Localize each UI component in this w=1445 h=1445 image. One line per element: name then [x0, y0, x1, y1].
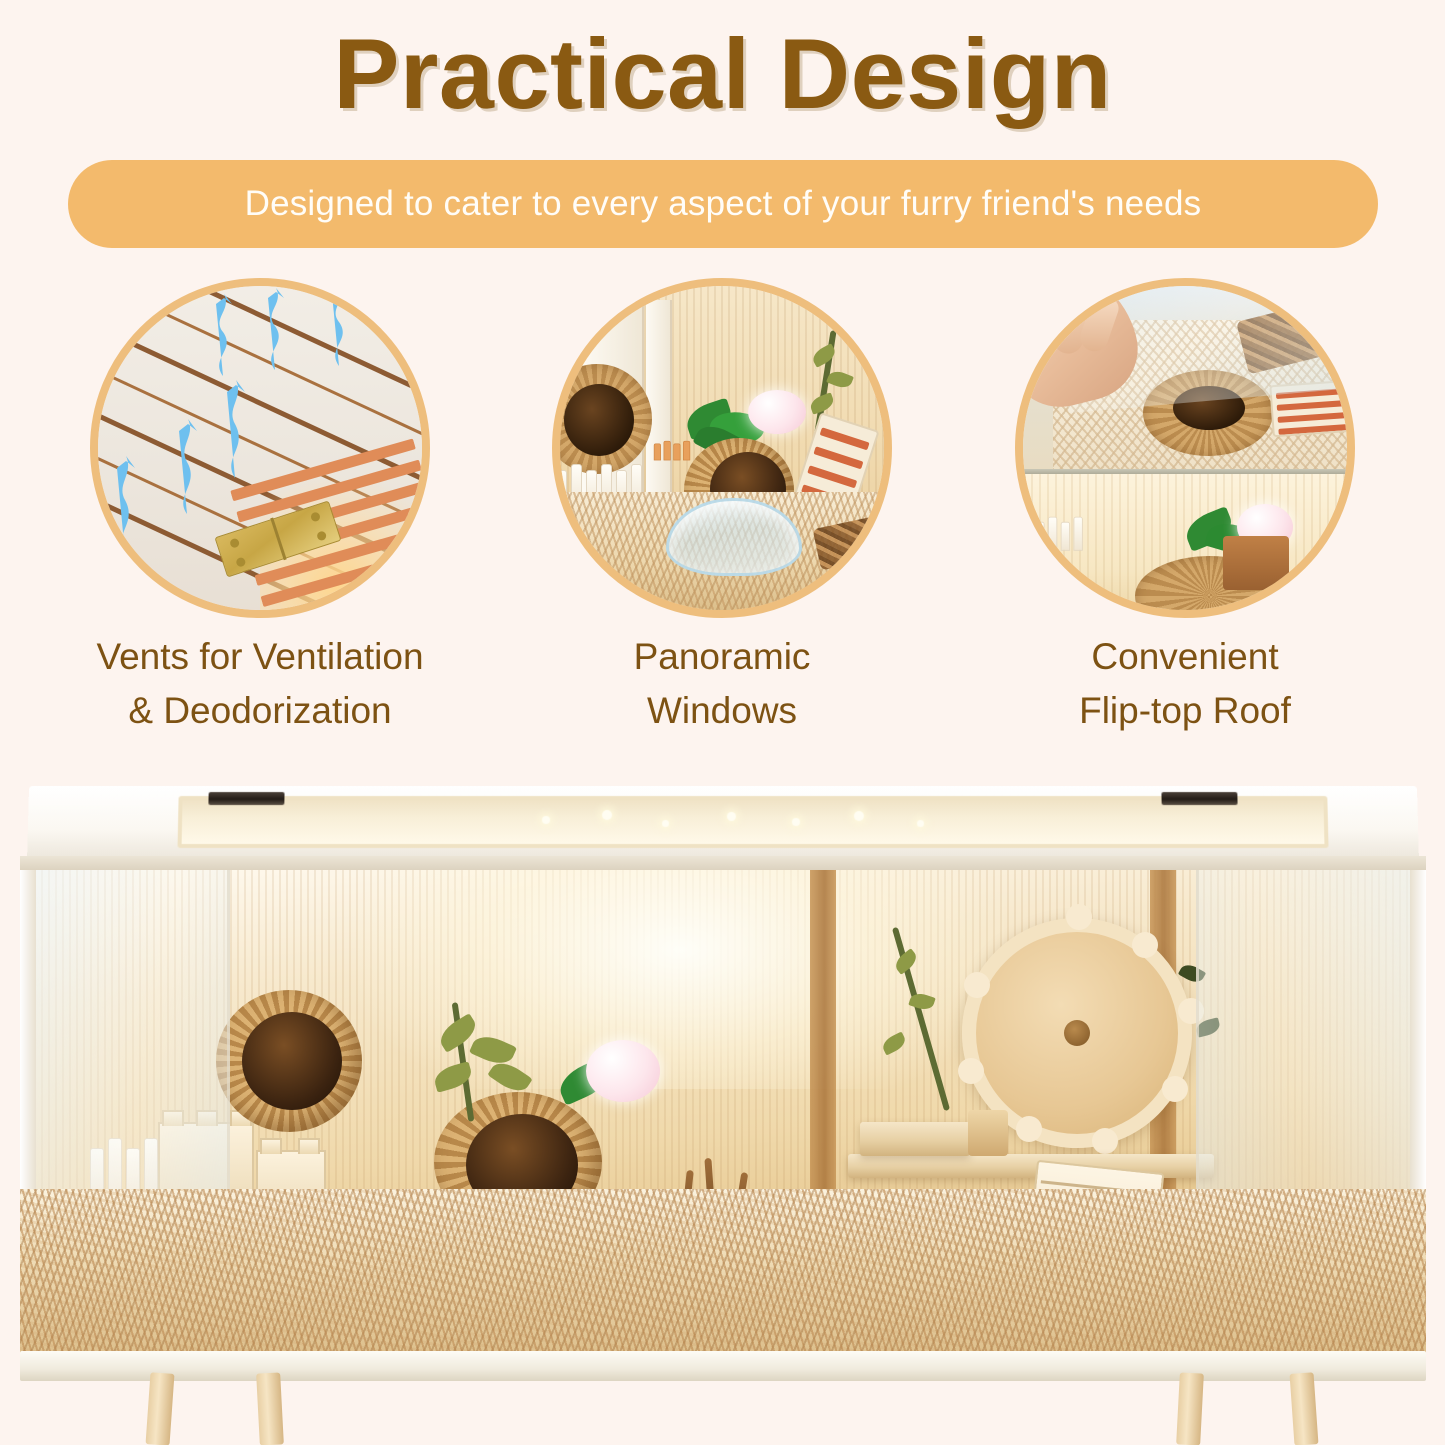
feature-image-panoramic-windows [552, 278, 892, 618]
wheel-scallop [964, 972, 990, 998]
feature-caption-flip-top-roof: Convenient Flip-top Roof [985, 630, 1385, 737]
airflow-arrow-icon [218, 376, 252, 480]
nest-opening [242, 1012, 342, 1110]
caption-line-2: & Deodorization [60, 684, 460, 738]
wood-step [860, 1122, 970, 1156]
lid-glass-inset [178, 796, 1329, 848]
castle-crenel [298, 1138, 320, 1154]
cage-leg [256, 1372, 284, 1445]
lid-hinge-left [208, 792, 284, 805]
feature-flip-top-roof: Convenient Flip-top Roof [985, 278, 1385, 748]
fence-picket [1061, 522, 1070, 551]
nest-hole [564, 384, 634, 456]
caption-line-1: Convenient [985, 630, 1385, 684]
subtitle-banner: Designed to cater to every aspect of you… [68, 160, 1378, 248]
lid-hinge-right [1161, 792, 1237, 805]
subtitle-text: Designed to cater to every aspect of you… [245, 184, 1202, 224]
caption-line-2: Flip-top Roof [985, 684, 1385, 738]
wheel-scallop [1016, 1116, 1042, 1142]
fence-picket [1048, 517, 1057, 551]
lid-highlight [792, 818, 800, 826]
feature-ventilation: Vents for Ventilation & Deodorization [60, 278, 460, 748]
airflow-arrow-icon [206, 292, 240, 378]
caption-line-1: Panoramic [522, 630, 922, 684]
cage-leg [1290, 1372, 1319, 1445]
cage-base-rail [20, 1351, 1426, 1381]
airflow-arrow-icon [322, 286, 356, 368]
lower-interior-scene [1023, 474, 1347, 610]
hinge-screw [316, 530, 327, 541]
ladder-rung [820, 427, 870, 450]
pink-blossom [586, 1040, 660, 1102]
wheel-scallop [1066, 904, 1092, 930]
ladder-rung [807, 465, 857, 488]
airflow-arrow-icon [108, 452, 142, 556]
caption-line-1: Vents for Ventilation [60, 630, 460, 684]
cage-leg [1176, 1372, 1204, 1445]
picket-fence-small [654, 440, 690, 461]
wheel-scallop [958, 1058, 984, 1084]
wheel-scallop [1092, 1128, 1118, 1154]
airflow-arrow-icon [170, 416, 204, 516]
lifted-lid-scene [1023, 286, 1347, 471]
fence-picket [683, 441, 690, 461]
panoramic-illustration [560, 286, 884, 610]
lid-highlight [542, 816, 550, 824]
header: Practical Design Designed to cater to ev… [0, 0, 1445, 258]
fence-picket [673, 444, 680, 461]
lid-highlight [662, 820, 669, 827]
ladder-rung [1277, 399, 1347, 411]
page-title: Practical Design [0, 24, 1445, 123]
bedding-floor [20, 1189, 1426, 1359]
product-photo [0, 770, 1445, 1445]
lid-highlight [727, 812, 736, 821]
lid-highlight [602, 810, 612, 820]
fence-picket [1073, 517, 1082, 551]
fliptop-illustration [1023, 286, 1347, 610]
cage-lid[interactable] [27, 786, 1419, 864]
pink-blossom [748, 390, 806, 434]
ladder-rung [1278, 411, 1347, 423]
hinge-screw [229, 537, 240, 548]
ladder-rung [813, 446, 863, 469]
ventilation-illustration [98, 286, 422, 610]
lid-highlight [917, 820, 924, 827]
airflow-arrow-icon [258, 286, 292, 372]
hinge-screw [235, 556, 246, 567]
feature-row: Vents for Ventilation & Deodorization [0, 278, 1445, 748]
feature-image-flip-top-roof [1015, 278, 1355, 618]
lid-highlight [854, 811, 864, 821]
fence-picket [664, 441, 671, 461]
finger [1036, 286, 1066, 338]
feature-caption-ventilation: Vents for Ventilation & Deodorization [60, 630, 460, 737]
picket-fence [1035, 513, 1083, 550]
castle-crenel [260, 1138, 282, 1154]
wood-block [1223, 536, 1289, 590]
hinge-screw [310, 511, 321, 522]
wheel-scallop [1132, 932, 1158, 958]
feature-panoramic-windows: Panoramic Windows [522, 278, 922, 748]
fence-picket [1035, 522, 1044, 551]
feature-caption-panoramic-windows: Panoramic Windows [522, 630, 922, 737]
wheel-hub [1064, 1020, 1090, 1046]
caption-line-2: Windows [522, 684, 922, 738]
wheel-scallop [1162, 1076, 1188, 1102]
cage-leg [146, 1372, 175, 1445]
fence-picket [654, 444, 661, 461]
feature-image-ventilation [90, 278, 430, 618]
wood-block [968, 1110, 1008, 1156]
